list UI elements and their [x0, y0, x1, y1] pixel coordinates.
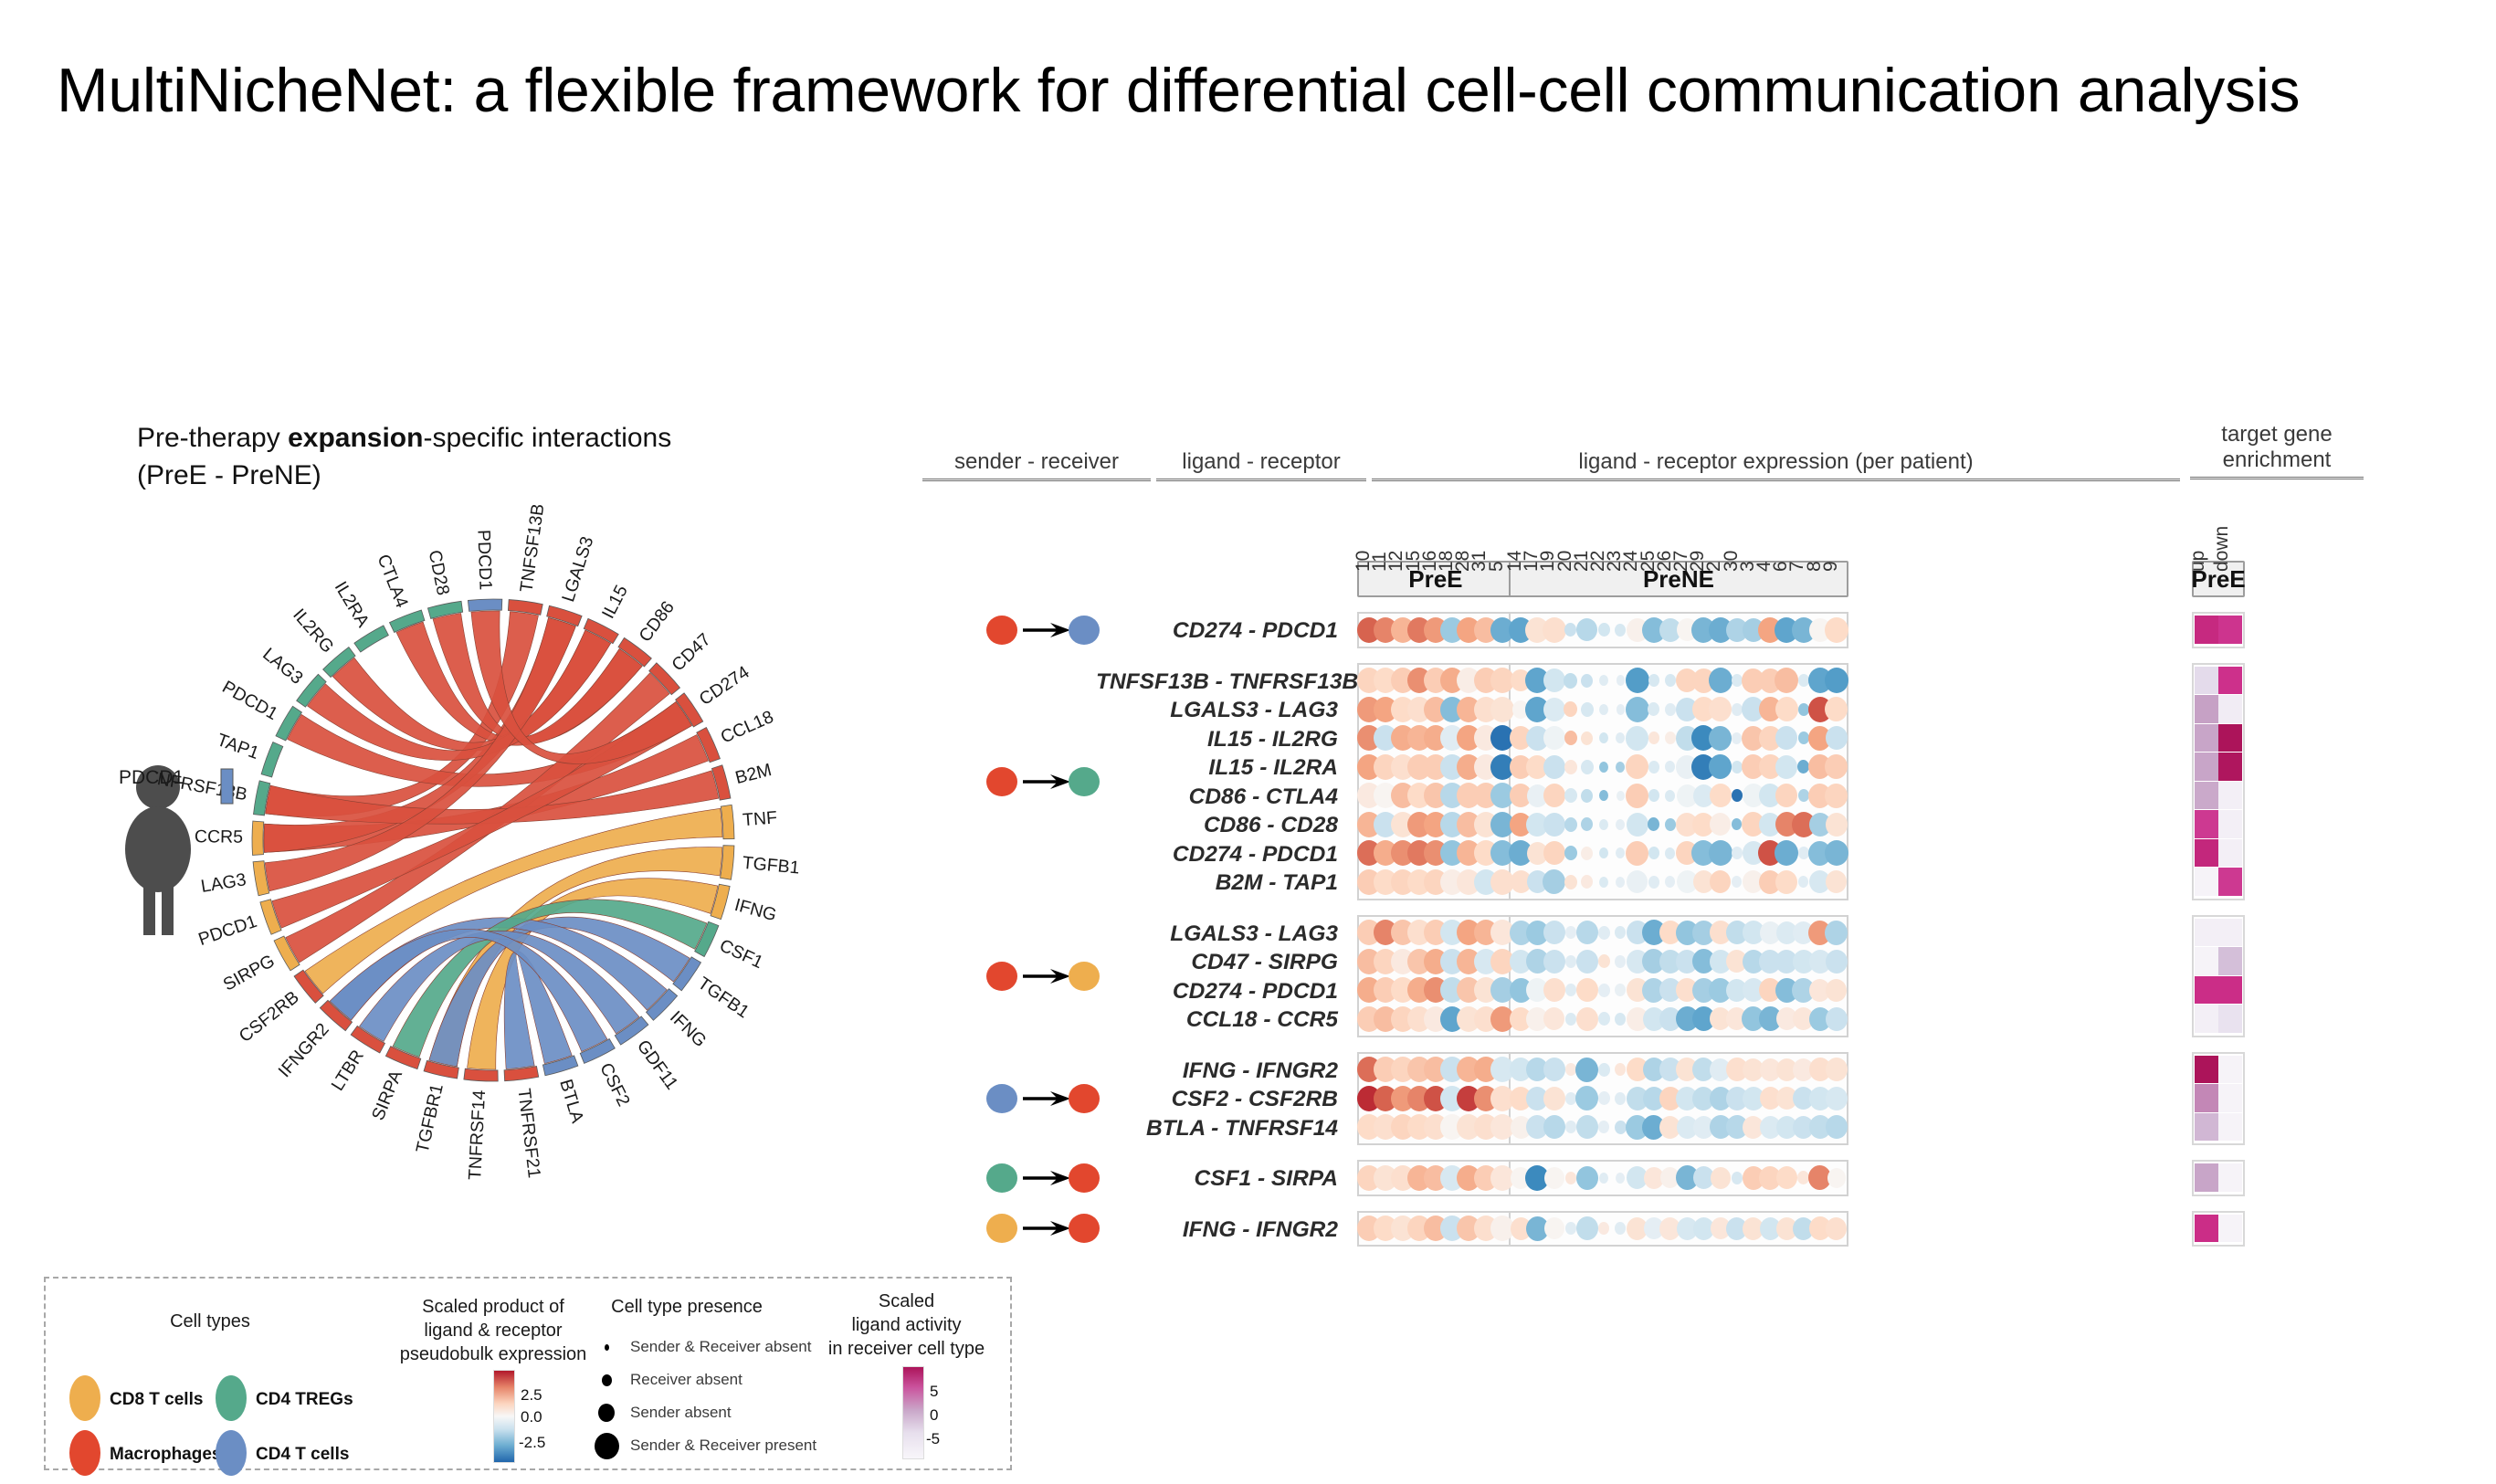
enrichment-cell-down — [2218, 1084, 2242, 1112]
expression-dot — [1565, 1172, 1576, 1184]
sender-receiver-arrow — [1023, 1218, 1072, 1243]
legend-activity-tick-2: -5 — [926, 1430, 940, 1448]
expression-dot — [1732, 732, 1742, 744]
chord-sector — [468, 599, 501, 611]
expression-dot — [1732, 674, 1743, 687]
enrichment-cell-up — [2195, 667, 2218, 695]
expression-dot — [1825, 921, 1848, 945]
legend-activity-title-l3: in receiver cell type — [828, 1339, 985, 1359]
expression-dot — [1543, 755, 1565, 779]
chord-sector-label: CSF2 — [595, 1059, 634, 1109]
expression-dot — [1565, 926, 1576, 939]
sender-receiver-arrow — [1023, 772, 1072, 796]
header-enrichment: target gene enrichment — [2190, 422, 2364, 479]
chord-sector-label: SIRPG — [220, 951, 279, 995]
sender-dot-cd4_t — [986, 1084, 1017, 1113]
legend-expression-tick-1: 0.0 — [521, 1408, 542, 1426]
enrichment-cell-up — [2195, 1163, 2218, 1192]
header-rule — [1372, 479, 2180, 481]
chord-sector-label: CCR5 — [195, 826, 243, 847]
row-label-ligand-receptor: LGALS3 - LAG3 — [1096, 921, 1338, 947]
header-enrichment-line1: target gene — [2221, 422, 2332, 447]
row-label-ligand-receptor: BTLA - TNFRSF14 — [1096, 1116, 1338, 1142]
expression-dot — [1543, 617, 1566, 643]
expression-dot — [1826, 1087, 1848, 1110]
legend-swatch-macrophages — [69, 1430, 100, 1476]
caption-pre: Pre-therapy — [137, 423, 288, 453]
expression-dot — [1544, 1167, 1564, 1189]
chord-sector-label: TNF — [742, 807, 778, 830]
receiver-dot-cd8_t — [1069, 962, 1100, 991]
expression-dot — [1826, 1058, 1848, 1081]
chord-sector-label: TNFRSF21 — [513, 1088, 544, 1180]
chord-sector-label: GDF11 — [633, 1037, 682, 1094]
expression-dot — [1825, 840, 1848, 866]
expression-dot — [1543, 1087, 1565, 1110]
expression-dot — [1798, 703, 1809, 716]
legend-activity-colorbar — [902, 1366, 924, 1459]
expression-dot — [1709, 726, 1732, 751]
expression-dot — [1576, 1115, 1598, 1139]
expression-dot — [1826, 1007, 1848, 1031]
expression-dot — [1543, 668, 1565, 692]
enrichment-cell-up — [2195, 839, 2218, 868]
expression-dot — [1543, 950, 1565, 974]
caption-post: -specific interactions — [423, 423, 671, 453]
chord-sector-label: IFNG — [732, 895, 779, 925]
legend-expression-title-l1: Scaled product of — [422, 1297, 564, 1317]
sender-dot-cd4_tregs — [986, 1163, 1017, 1193]
page-title: MultiNicheNet: a flexible framework for … — [57, 53, 2395, 129]
enrichment-cell-up — [2195, 753, 2218, 781]
expression-dot — [1599, 819, 1608, 830]
receiver-dot-cd4_tregs — [1069, 767, 1100, 796]
enrichment-cell-up — [2195, 616, 2218, 644]
expression-dot — [1709, 840, 1732, 866]
chord-sector-label: IFNG — [666, 1007, 711, 1051]
receiver-dot-macrophages — [1069, 1084, 1100, 1113]
expression-dot — [1617, 791, 1625, 801]
expression-dot — [1490, 697, 1514, 722]
legend-presence-label: Sender & Receiver present — [630, 1437, 816, 1455]
expression-dot — [1564, 760, 1577, 774]
legend-box: Cell types CD8 T cells CD4 TREGs Macroph… — [44, 1277, 1012, 1470]
expression-dot — [1615, 624, 1626, 637]
expression-dot — [1775, 870, 1797, 894]
expression-dot — [1709, 668, 1732, 693]
chord-sector-label: CSF1 — [716, 935, 765, 973]
enrichment-cell-down — [2218, 1163, 2242, 1192]
expression-dot — [1627, 813, 1648, 837]
chord-sector-label: PDCD1 — [195, 911, 259, 950]
enrichment-cell-down — [2218, 753, 2242, 781]
expression-dot — [1564, 673, 1577, 689]
expression-dot — [1581, 760, 1594, 774]
expression-dot — [1565, 1222, 1576, 1235]
header-rule — [922, 479, 1151, 481]
expression-dot — [1564, 846, 1577, 860]
expression-dot — [1543, 978, 1565, 1002]
chord-sector — [261, 742, 283, 777]
chord-sector-label: IL2RG — [289, 605, 338, 657]
sender-dot-macrophages — [986, 616, 1017, 645]
expression-block-prene — [1509, 663, 1848, 900]
expression-dot — [1711, 1167, 1731, 1189]
sender-receiver-arrow — [1023, 1089, 1072, 1113]
expression-dot — [1615, 1092, 1626, 1105]
chord-sector-label: CD28 — [425, 548, 454, 596]
legend-activity-tick-1: 0 — [930, 1406, 938, 1425]
enrichment-cell-down — [2218, 839, 2242, 868]
expression-dot — [1775, 755, 1797, 779]
sender-receiver-arrow — [1023, 966, 1072, 991]
expression-dot — [1626, 841, 1648, 866]
enrichment-cell-up — [2195, 947, 2218, 975]
row-label-ligand-receptor: CSF2 - CSF2RB — [1096, 1087, 1338, 1112]
chord-sector-label: TGFB1 — [742, 853, 801, 879]
expression-dot — [1648, 789, 1659, 802]
legend-swatch-cd4t — [216, 1430, 247, 1476]
legend-presence-dot — [595, 1433, 619, 1459]
enrichment-cell-up — [2195, 976, 2218, 1005]
chord-sector-label: LAG3 — [199, 869, 247, 897]
expression-dot — [1617, 675, 1626, 686]
expression-dot — [1565, 1121, 1576, 1133]
chord-sector — [354, 626, 388, 652]
enrichment-cell-down — [2218, 919, 2242, 947]
chord-sector-label: PDCD1 — [473, 530, 495, 591]
enrichment-cell-up — [2195, 919, 2218, 947]
expression-dot — [1617, 704, 1626, 715]
enrichment-cell-down — [2218, 810, 2242, 838]
chord-sector — [464, 1068, 498, 1081]
chord-sector-label: TNFRSF14 — [465, 1089, 490, 1181]
row-label-ligand-receptor: CD274 - PDCD1 — [1096, 842, 1338, 868]
expression-dot — [1798, 789, 1809, 802]
expression-dot — [1598, 623, 1610, 637]
row-label-ligand-receptor: CD274 - PDCD1 — [1096, 979, 1338, 1005]
expression-dot — [1564, 875, 1577, 889]
legend-expression-colorbar — [493, 1370, 515, 1463]
chord-sector-label: CD86 — [635, 597, 679, 646]
expression-dot — [1543, 1058, 1565, 1081]
enrichment-cell-down — [2218, 1113, 2242, 1142]
chord-sector-pdcd1-isolated — [221, 769, 233, 804]
sender-dot-macrophages — [986, 767, 1017, 796]
sender-receiver-arrow — [1023, 620, 1072, 645]
expression-dot — [1576, 921, 1598, 944]
enrichment-cell-up — [2195, 1056, 2218, 1084]
chord-sector — [721, 805, 734, 838]
expression-dot — [1581, 702, 1594, 717]
header-rule — [1156, 479, 1366, 481]
chord-sector — [252, 821, 264, 855]
legend-activity-tick-0: 5 — [930, 1383, 938, 1401]
row-label-ligand-receptor: CSF1 - SIRPA — [1096, 1166, 1338, 1192]
expression-dot — [1665, 818, 1676, 831]
chord-sector-label: PDCD1 — [219, 677, 281, 724]
row-label-ligand-receptor: B2M - TAP1 — [1096, 870, 1338, 896]
expression-dot — [1775, 697, 1798, 721]
header-rule — [2190, 477, 2364, 479]
expression-dot — [1564, 788, 1577, 803]
expression-dot — [1648, 731, 1659, 744]
receiver-dot-cd4_t — [1069, 616, 1100, 645]
expression-dot — [1543, 921, 1565, 944]
legend-expression-title: Scaled product of ligand & receptor pseu… — [393, 1295, 594, 1366]
chord-sector-label: LAG3 — [258, 644, 307, 689]
legend-swatch-cd8 — [69, 1375, 100, 1421]
expression-dot — [1626, 697, 1649, 722]
enrichment-cell-up — [2195, 724, 2218, 753]
legend-expression-tick-2: -2.5 — [519, 1434, 545, 1452]
expression-dot — [1543, 841, 1565, 865]
header-expression: ligand - receptor expression (per patien… — [1372, 449, 2180, 481]
expression-dot — [1798, 847, 1809, 859]
expression-dot — [1576, 1007, 1598, 1031]
legend-activity-title-l2: ligand activity — [851, 1315, 961, 1335]
row-label-ligand-receptor: CD86 - CTLA4 — [1096, 784, 1338, 810]
dotplot-panel: sender - receiver ligand - receptor liga… — [922, 347, 2438, 1233]
expression-dot — [1732, 703, 1743, 716]
chord-sector-label: TNFSF13B — [516, 502, 548, 594]
chord-sector-label: CD47 — [668, 629, 714, 675]
legend-celltypes-title: Cell types — [100, 1310, 320, 1333]
chord-sector-label: BTLA — [555, 1077, 587, 1125]
expression-dot — [1576, 950, 1598, 974]
chord-sector-label: CTLA4 — [373, 552, 412, 611]
chord-sector-label: SIRPA — [368, 1068, 406, 1123]
chord-sector-label: IFNGR2 — [275, 1019, 333, 1081]
row-label-ligand-receptor: LGALS3 - LAG3 — [1096, 698, 1338, 723]
expression-dot — [1598, 926, 1610, 940]
expression-dot — [1626, 784, 1648, 808]
expression-dot — [1598, 1012, 1610, 1026]
enrichment-cell-up — [2195, 695, 2218, 723]
enrichment-cell-down — [2218, 667, 2242, 695]
expression-dot — [1615, 955, 1626, 968]
enrichment-cell-up — [2195, 810, 2218, 838]
expression-dot — [1825, 617, 1848, 643]
chord-sector-label: CCL18 — [718, 707, 776, 748]
expression-dot — [1576, 978, 1598, 1002]
receiver-dot-macrophages — [1069, 1214, 1100, 1243]
legend-label-cd8: CD8 T cells — [110, 1390, 203, 1410]
receiver-dot-macrophages — [1069, 1163, 1100, 1193]
expression-dot — [1598, 954, 1610, 968]
chord-sector-label: TGFBR1 — [413, 1082, 448, 1155]
enrichment-col-label-down: down — [2211, 526, 2233, 572]
sender-receiver-arrow — [1023, 1168, 1072, 1193]
expression-dot — [1648, 761, 1659, 774]
legend-activity-title: Scaled ligand activity in receiver cell … — [804, 1289, 1009, 1361]
header-ligand-receptor: ligand - receptor — [1156, 449, 1366, 481]
header-enrichment-line2: enrichment — [2223, 447, 2332, 472]
enrichment-cell-down — [2218, 868, 2242, 896]
chord-sector-label: IL2RA — [331, 578, 374, 631]
legend-label-cd4t: CD4 T cells — [256, 1445, 349, 1465]
expression-dot — [1576, 1216, 1598, 1240]
expression-dot — [1565, 1063, 1576, 1076]
enrichment-cell-up — [2195, 868, 2218, 896]
expression-dot — [1565, 984, 1576, 996]
legend-swatch-cd4tregs — [216, 1375, 247, 1421]
expression-dot — [1565, 955, 1576, 968]
legend-expression-title-l2: ligand & receptor — [424, 1321, 562, 1341]
enrichment-cell-down — [2218, 1056, 2242, 1084]
patient-col-label: 9 — [1820, 561, 1842, 572]
expression-dot — [1598, 1091, 1610, 1105]
expression-dot — [1732, 1172, 1743, 1184]
legend-activity-title-l1: Scaled — [879, 1291, 934, 1311]
expression-dot — [1826, 1115, 1848, 1139]
expression-dot — [1575, 1058, 1598, 1082]
header-sender-receiver-label: sender - receiver — [954, 449, 1119, 474]
sender-dot-macrophages — [986, 962, 1017, 991]
legend-expression-title-l3: pseudobulk expression — [400, 1344, 587, 1364]
expression-dot — [1648, 876, 1659, 889]
enrichment-cell-down — [2218, 724, 2242, 753]
enrichment-cell-down — [2218, 947, 2242, 975]
expression-dot — [1543, 1115, 1565, 1139]
row-label-ligand-receptor: IFNG - IFNGR2 — [1096, 1217, 1338, 1243]
expression-dot — [1615, 1013, 1626, 1026]
legend-label-cd4tregs: CD4 TREGs — [256, 1390, 353, 1410]
expression-dot — [1599, 877, 1608, 888]
expression-dot — [1626, 668, 1649, 693]
enrichment-cell-down — [2218, 1215, 2242, 1243]
chord-sector-label: TGFB1 — [694, 974, 753, 1023]
enrichment-cell-up — [2195, 782, 2218, 810]
chord-sector-label: TNFRSF13B — [155, 767, 248, 805]
expression-dot — [1732, 789, 1743, 802]
expression-dot — [1732, 761, 1743, 774]
expression-dot — [1599, 1173, 1608, 1184]
enrichment-col-label-up: up — [2187, 551, 2209, 572]
header-ligand-receptor-label: ligand - receptor — [1182, 449, 1340, 474]
chord-diagram-panel: Pre-therapy expansion-specific interacti… — [100, 402, 886, 1224]
row-label-ligand-receptor: CD47 - SIRPG — [1096, 950, 1338, 975]
expression-dot — [1565, 1092, 1576, 1105]
expression-dot — [1648, 847, 1659, 859]
chord-sector-label: LGALS3 — [558, 534, 597, 605]
expression-dot — [1564, 731, 1577, 745]
enrichment-cell-up — [2195, 1215, 2218, 1243]
enrichment-cell-up — [2195, 1084, 2218, 1112]
chord-sector-label: B2M — [733, 760, 774, 788]
header-expression-label: ligand - receptor expression (per patien… — [1578, 449, 1973, 474]
row-label-ligand-receptor: CD86 - CD28 — [1096, 813, 1338, 838]
expression-dot — [1826, 950, 1848, 974]
sender-dot-cd8_t — [986, 1214, 1017, 1243]
expression-dot — [1576, 1166, 1598, 1190]
chord-sector-label: TAP1 — [215, 730, 262, 763]
expression-dot — [1565, 1013, 1576, 1026]
expression-dot — [1543, 698, 1565, 721]
legend-expression-tick-0: 2.5 — [521, 1386, 542, 1405]
row-label-ligand-receptor: TNFSF13B - TNFRSF13B — [1096, 669, 1338, 695]
chord-sector-label: IL15 — [598, 582, 632, 622]
header-sender-receiver: sender - receiver — [922, 449, 1151, 481]
row-label-ligand-receptor: IL15 - IL2RA — [1096, 755, 1338, 781]
enrichment-cell-down — [2218, 695, 2242, 723]
expression-dot — [1798, 674, 1809, 687]
expression-dot — [1543, 813, 1565, 837]
expression-dot — [1825, 784, 1848, 808]
expression-dot — [1827, 1168, 1846, 1188]
row-label-ligand-receptor: CD274 - PDCD1 — [1096, 618, 1338, 644]
caption-bold: expansion — [288, 423, 423, 453]
enrichment-cell-down — [2218, 782, 2242, 810]
enrichment-cell-down — [2218, 1005, 2242, 1033]
expression-dot — [1599, 762, 1608, 773]
expression-dot — [1615, 1121, 1627, 1134]
chord-diagram: PDCD1TNFSF13BLGALS3IL15CD86CD47CD274CCL1… — [155, 475, 868, 1196]
chord-sector-label: LTBR — [328, 1047, 368, 1095]
expression-dot — [1776, 1166, 1797, 1189]
enrichment-cell-down — [2218, 616, 2242, 644]
chord-sector-label: CD274 — [696, 662, 753, 710]
expression-dot — [1543, 784, 1565, 807]
expression-dot — [1798, 731, 1809, 744]
legend-label-macrophages: Macrophages — [110, 1445, 221, 1465]
expression-dot — [1826, 726, 1848, 750]
expression-dot — [1543, 726, 1565, 750]
enrichment-cell-down — [2218, 976, 2242, 1005]
row-label-ligand-receptor: CCL18 - CCR5 — [1096, 1007, 1338, 1033]
enrichment-cell-up — [2195, 1005, 2218, 1033]
expression-dot — [1598, 1063, 1610, 1077]
row-label-ligand-receptor: IL15 - IL2RG — [1096, 727, 1338, 753]
expression-dot — [1564, 817, 1577, 832]
expression-dot — [1626, 726, 1648, 751]
row-label-ligand-receptor: IFNG - IFNGR2 — [1096, 1058, 1338, 1084]
expression-dot — [1544, 1217, 1564, 1239]
expression-dot — [1825, 668, 1848, 693]
expression-dot — [1599, 704, 1608, 715]
expression-dot — [1710, 784, 1732, 807]
expression-dot — [1826, 813, 1848, 837]
expression-dot — [1598, 984, 1610, 997]
expression-dot — [1648, 674, 1659, 687]
expression-dot — [1732, 847, 1743, 859]
enrichment-cell-up — [2195, 1113, 2218, 1142]
chord-sector-label: CSF2RB — [236, 987, 303, 1047]
expression-dot — [1665, 703, 1676, 716]
